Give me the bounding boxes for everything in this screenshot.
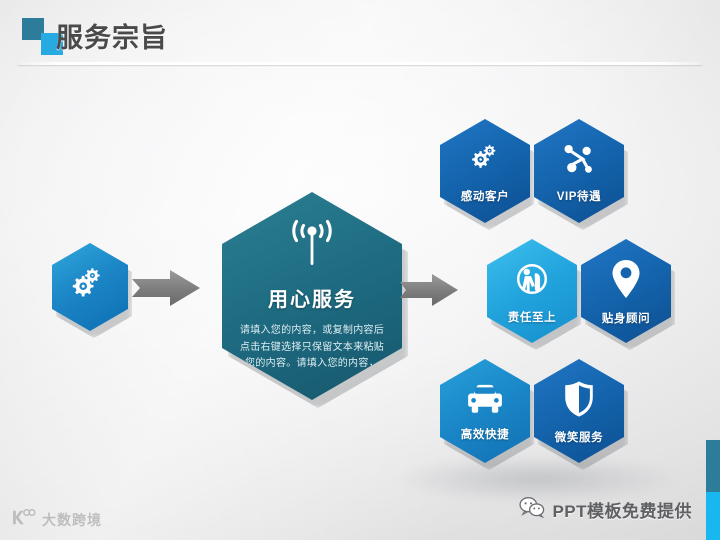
center-node-heading: 用心服务: [268, 283, 356, 312]
left-watermark: 大数跨境: [10, 508, 102, 531]
share-network-icon: [561, 141, 597, 182]
person-responsibility-icon: [513, 260, 551, 303]
gears-icon: [69, 264, 111, 311]
brand-logo-icon: [10, 508, 36, 531]
title-divider: [18, 62, 702, 65]
left-watermark-text: 大数跨境: [42, 510, 102, 530]
cluster-item-label: 高效快捷: [461, 426, 509, 442]
right-watermark: PPT模板免费提供: [519, 496, 692, 523]
right-watermark-text: PPT模板免费提供: [552, 497, 692, 522]
arrow-center-to-cluster: [398, 272, 460, 308]
slide-canvas: 服务宗旨: [0, 0, 720, 540]
map-pin-icon: [611, 259, 641, 304]
edge-accent-bar-top: [706, 440, 720, 492]
cluster-item-label: 贴身顾问: [602, 310, 650, 326]
cluster-item-label: 责任至上: [508, 309, 556, 325]
edge-accent-bar-bottom: [706, 492, 720, 540]
gears-icon: [466, 141, 504, 182]
page-title: 服务宗旨: [56, 16, 168, 55]
cluster-item-label: 微笑服务: [555, 429, 603, 445]
car-icon: [464, 383, 506, 420]
arrow-start-to-center: [130, 268, 202, 308]
center-node-body: 请填入您的内容，或复制内容后点击右键选择只保留文本来粘贴您的内容。请填入您的内容…: [237, 323, 387, 373]
cluster-item-label: VIP待遇: [557, 188, 602, 204]
broadcast-signal-icon: [283, 216, 341, 273]
shield-icon: [562, 380, 596, 423]
wechat-icon: [519, 496, 545, 523]
cluster-item-label: 感动客户: [461, 188, 509, 204]
